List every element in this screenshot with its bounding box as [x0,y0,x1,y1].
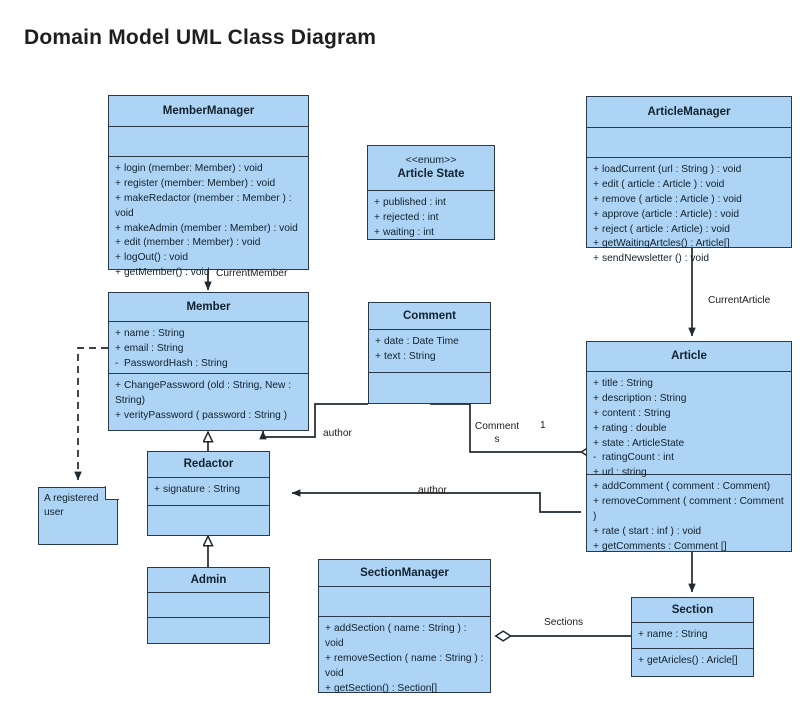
note-text: A registered user [44,493,98,518]
class-member[interactable]: Member +name : String +email : String -P… [108,292,309,431]
attribute-row: +description : String [593,392,786,407]
method-row: +ChangePassword (old : String, New : Str… [115,379,303,409]
attributes-compartment [109,127,308,157]
method-signature: login (member: Member) : void [124,163,263,174]
visibility-marker: + [593,377,602,392]
method-signature: makeRedactor (member : Member ) : void [115,193,292,219]
attribute-row: +text : String [375,350,485,365]
method-row: +getWaitingArtcles() : Article[] [593,237,786,252]
class-name: Article [671,349,707,363]
methods-compartment: +login (member: Member) : void +register… [109,157,308,286]
visibility-marker: + [374,196,383,211]
edge-member-note [78,348,108,480]
visibility-marker: - [115,357,124,372]
methods-compartment: +addSection ( name : String ) : void +re… [319,617,490,701]
attributes-compartment: +published : int +rejected : int +waitin… [368,191,494,246]
class-header: ArticleManager [587,97,791,128]
method-signature: loadCurrent (url : String ) : void [602,164,741,175]
method-signature: getMember() : void [124,267,210,278]
visibility-marker: + [115,409,124,424]
method-row: +addSection ( name : String ) : void [325,622,485,652]
attribute-signature: text : String [384,351,436,362]
visibility-marker: + [374,226,383,241]
methods-compartment [369,373,490,383]
method-signature: sendNewsletter () : void [602,253,709,264]
visibility-marker: + [593,540,602,555]
class-name: Article State [397,167,464,181]
class-name: SectionManager [360,566,449,580]
method-signature: register (member: Member) : void [124,178,275,189]
edge-label-comments: Comment s [471,420,523,447]
class-redactor[interactable]: Redactor +signature : String [147,451,270,536]
method-signature: getAricles() : Aricle[] [647,655,738,666]
visibility-marker: + [154,483,163,498]
visibility-marker: + [593,466,602,481]
method-row: +reject ( article : Article) : void [593,223,786,238]
edge-label-author-comment: author [323,428,352,439]
attributes-compartment [587,128,791,158]
attribute-row: +name : String [115,327,303,342]
edge-label-sections: Sections [544,617,583,628]
visibility-marker: + [593,193,602,208]
methods-compartment: +ChangePassword (old : String, New : Str… [109,374,308,429]
visibility-marker: + [115,342,124,357]
method-signature: logOut() : void [124,252,188,263]
attributes-compartment: +title : String +description : String +c… [587,372,791,475]
attribute-signature: content : String [602,408,671,419]
attribute-signature: email : String [124,343,183,354]
method-row: +getComments : Comment [] [593,540,786,555]
method-row: +remove ( article : Article ) : void [593,193,786,208]
method-row: +addComment ( comment : Comment) [593,480,786,495]
visibility-marker: + [325,622,334,637]
attribute-signature: description : String [602,393,686,404]
edge-label-currentarticle: CurrentArticle [708,295,770,306]
class-header: Admin [148,568,269,593]
attribute-row: +title : String [593,377,786,392]
visibility-marker: + [638,654,647,669]
edge-label-currentmember: CurrentMember [216,268,287,279]
page-title: Domain Model UML Class Diagram [24,26,376,50]
visibility-marker: + [115,379,124,394]
class-name: MemberManager [163,104,254,118]
method-signature: addSection ( name : String ) : void [325,623,467,649]
class-header: SectionManager [319,560,490,587]
attribute-row: +rejected : int [374,211,489,226]
methods-compartment [148,506,269,516]
method-signature: getWaitingArtcles() : Article[] [602,238,730,249]
visibility-marker: + [593,480,602,495]
attribute-signature: rejected : int [383,212,439,223]
visibility-marker: + [593,223,602,238]
visibility-marker: + [593,252,602,267]
attributes-compartment: +name : String +email : String -Password… [109,322,308,374]
visibility-marker: - [593,451,602,466]
visibility-marker: + [115,177,124,192]
attributes-compartment [148,593,269,618]
class-name: ArticleManager [647,105,730,119]
edge-label-author-article: author [418,485,447,496]
attribute-signature: PasswordHash : String [124,358,228,369]
attribute-signature: name : String [124,328,185,339]
class-name: Comment [403,309,456,323]
method-signature: makeAdmin (member : Member) : void [124,223,298,234]
method-row: +makeRedactor (member : Member ) : void [115,192,303,222]
attributes-compartment: +name : String [632,623,753,649]
class-section[interactable]: Section +name : String +getAricles() : A… [631,597,754,677]
class-header: Member [109,293,308,322]
visibility-marker: + [115,162,124,177]
class-articlestate[interactable]: <<enum>> Article State +published : int … [367,145,495,240]
class-membermanager[interactable]: MemberManager +login (member: Member) : … [108,95,309,270]
method-signature: removeComment ( comment : Comment ) [593,496,784,522]
class-article[interactable]: Article +title : String +description : S… [586,341,792,552]
methods-compartment: +addComment ( comment : Comment) +remove… [587,475,791,559]
attribute-signature: title : String [602,378,653,389]
visibility-marker: + [375,350,384,365]
method-row: +edit (member : Member) : void [115,236,303,251]
method-signature: approve (article : Article) : void [602,209,739,220]
method-signature: edit ( article : Article ) : void [602,179,724,190]
visibility-marker: + [115,222,124,237]
method-row: +getAricles() : Aricle[] [638,654,748,669]
visibility-marker: + [325,682,334,697]
class-header: MemberManager [109,96,308,127]
note-fold-corner [105,486,119,500]
edge-label-comments-text: Comment s [475,421,519,445]
visibility-marker: + [115,251,124,266]
attribute-row: +state : ArticleState [593,437,786,452]
visibility-marker: + [593,495,602,510]
attribute-row: -ratingCount : int [593,451,786,466]
method-signature: reject ( article : Article) : void [602,224,730,235]
visibility-marker: + [593,407,602,422]
attribute-row: -PasswordHash : String [115,357,303,372]
visibility-marker: + [593,392,602,407]
attribute-row: +rating : double [593,422,786,437]
method-row: +verityPassword ( password : String ) [115,409,303,424]
method-signature: verityPassword ( password : String ) [124,410,287,421]
visibility-marker: + [115,236,124,251]
method-row: +removeComment ( comment : Comment ) [593,495,786,525]
class-header: <<enum>> Article State [368,146,494,191]
attribute-signature: signature : String [163,484,240,495]
visibility-marker: + [593,437,602,452]
method-row: +rate ( start : inf ) : void [593,525,786,540]
attribute-signature: rating : double [602,423,667,434]
class-header: Redactor [148,452,269,478]
method-row: +logOut() : void [115,251,303,266]
method-row: +register (member: Member) : void [115,177,303,192]
method-row: +removeSection ( name : String ) : void [325,652,485,682]
attribute-signature: date : Date Time [384,336,459,347]
visibility-marker: + [593,163,602,178]
visibility-marker: + [593,237,602,252]
visibility-marker: + [115,192,124,207]
class-header: Section [632,598,753,623]
method-signature: getComments : Comment [] [602,541,727,552]
attribute-row: +name : String [638,628,748,643]
method-row: +approve (article : Article) : void [593,208,786,223]
attribute-signature: url : string [602,467,647,478]
visibility-marker: + [593,208,602,223]
visibility-marker: + [638,628,647,643]
class-header: Comment [369,303,490,330]
visibility-marker: + [325,652,334,667]
method-signature: removeSection ( name : String ) : void [325,653,483,679]
attribute-row: +signature : String [154,483,264,498]
visibility-marker: + [593,178,602,193]
methods-compartment: +getAricles() : Aricle[] [632,649,753,674]
visibility-marker: + [593,422,602,437]
class-name: Redactor [184,457,234,471]
method-row: +makeAdmin (member : Member) : void [115,222,303,237]
visibility-marker: + [593,525,602,540]
method-row: +edit ( article : Article ) : void [593,178,786,193]
visibility-marker: + [374,211,383,226]
method-signature: ChangePassword (old : String, New : Stri… [115,380,291,406]
class-admin[interactable]: Admin [147,567,270,644]
note-registered-user[interactable]: A registered user [38,487,118,545]
class-name: Section [672,603,714,617]
class-stereotype: <<enum>> [406,154,457,167]
class-name: Admin [191,573,227,587]
attributes-compartment: +signature : String [148,478,269,506]
attribute-row: +published : int [374,196,489,211]
method-signature: addComment ( comment : Comment) [602,481,770,492]
method-signature: edit (member : Member) : void [124,237,260,248]
attribute-signature: published : int [383,197,446,208]
attribute-signature: name : String [647,629,708,640]
class-articlemanager[interactable]: ArticleManager +loadCurrent (url : Strin… [586,96,792,248]
methods-compartment [148,618,269,628]
attribute-row: +date : Date Time [375,335,485,350]
visibility-marker: + [115,327,124,342]
attributes-compartment: +date : Date Time +text : String [369,330,490,373]
attribute-signature: ratingCount : int [602,452,674,463]
method-row: +getSection() : Section[] [325,682,485,697]
methods-compartment: +loadCurrent (url : String ) : void +edi… [587,158,791,272]
method-row: +login (member: Member) : void [115,162,303,177]
attributes-compartment [319,587,490,617]
attribute-row: +email : String [115,342,303,357]
class-sectionmanager[interactable]: SectionManager +addSection ( name : Stri… [318,559,491,693]
attribute-row: +waiting : int [374,226,489,241]
method-row: +loadCurrent (url : String ) : void [593,163,786,178]
method-signature: getSection() : Section[] [334,683,437,694]
edge-label-comments-multiplicity: 1 [540,420,546,431]
method-signature: rate ( start : inf ) : void [602,526,701,537]
attribute-signature: state : ArticleState [602,438,684,449]
visibility-marker: + [115,266,124,281]
class-name: Member [186,300,230,314]
attribute-signature: waiting : int [383,227,434,238]
class-header: Article [587,342,791,372]
visibility-marker: + [375,335,384,350]
method-signature: remove ( article : Article ) : void [602,194,742,205]
class-comment[interactable]: Comment +date : Date Time +text : String [368,302,491,404]
method-row: +sendNewsletter () : void [593,252,786,267]
attribute-row: +content : String [593,407,786,422]
